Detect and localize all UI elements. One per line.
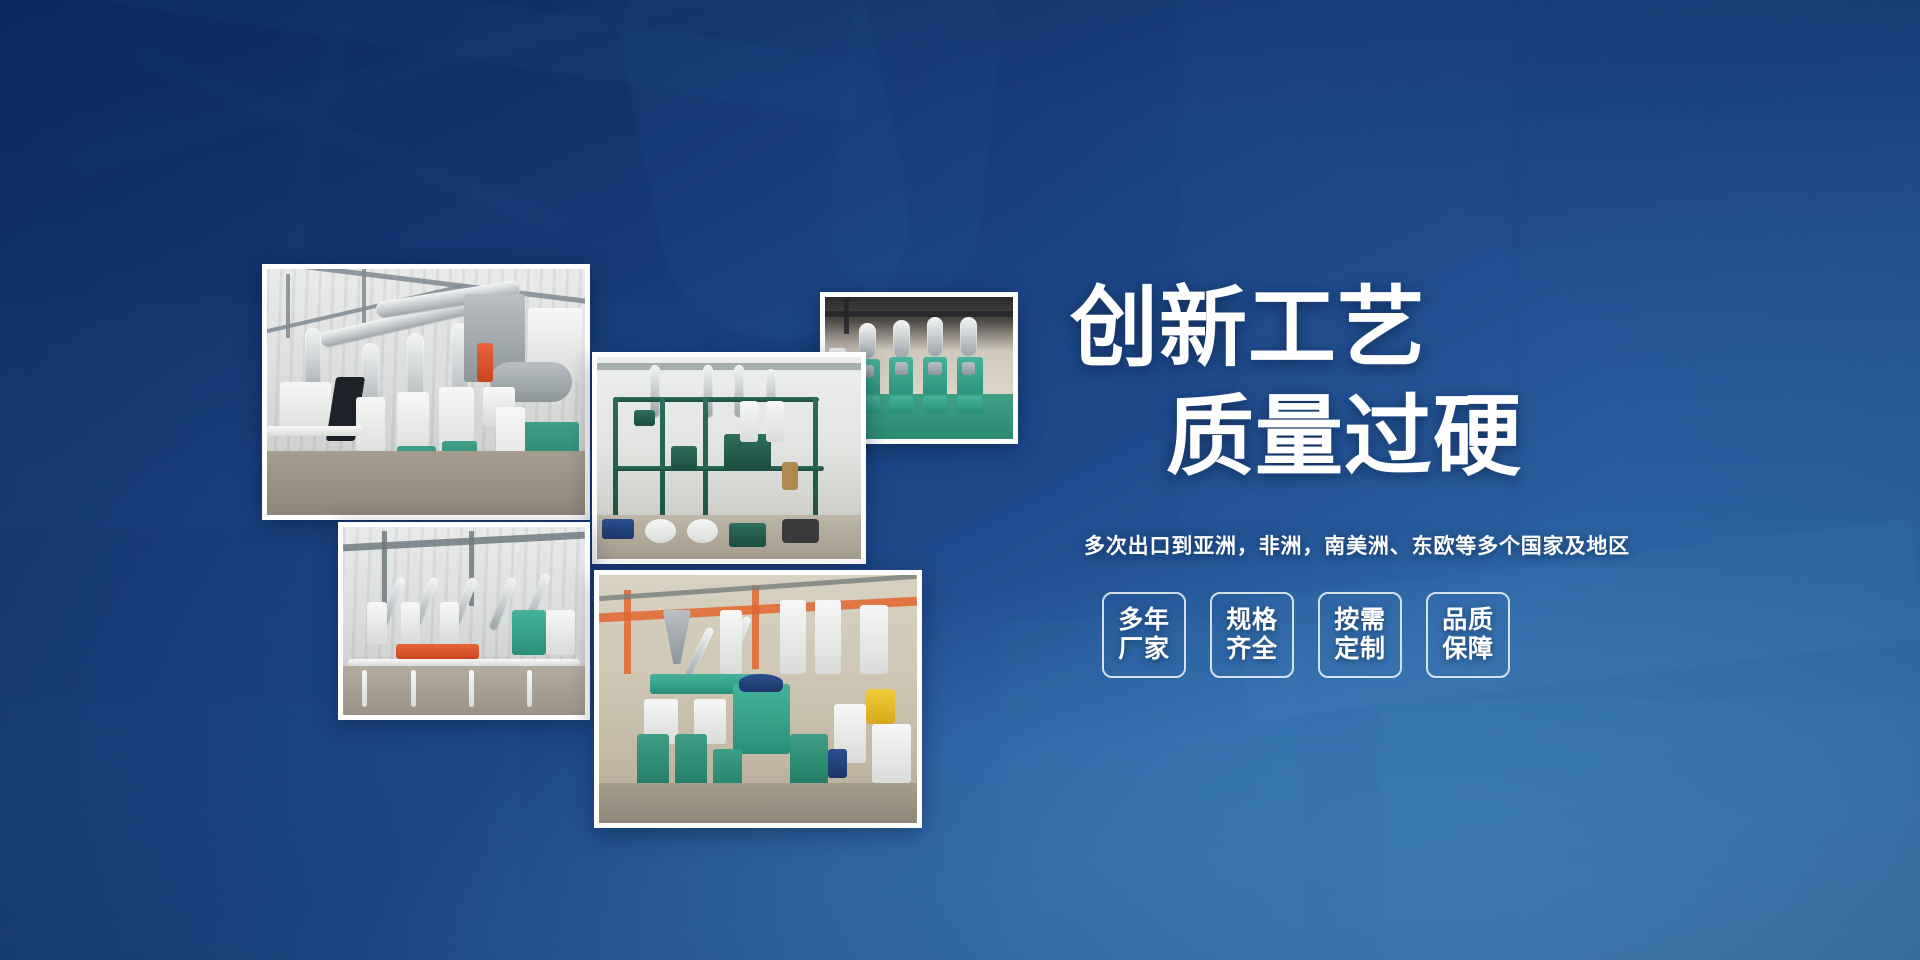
- feature-badge-years[interactable]: 多年 厂家: [1102, 592, 1186, 678]
- feature-badge-specs[interactable]: 规格 齐全: [1210, 592, 1294, 678]
- banner-subtitle: 多次出口到亚洲，非洲，南美洲、东欧等多个国家及地区: [1084, 530, 1860, 560]
- page-title: 创新工艺 质量过硬: [1070, 280, 1860, 484]
- badge-line-2: 保障: [1442, 635, 1494, 664]
- feature-badge-custom[interactable]: 按需 定制: [1318, 592, 1402, 678]
- badge-line-2: 定制: [1334, 635, 1386, 664]
- photo-image: [597, 357, 861, 559]
- badge-line-2: 齐全: [1226, 635, 1278, 664]
- badge-line-1: 按需: [1334, 606, 1386, 635]
- badge-line-1: 多年: [1118, 606, 1170, 635]
- headline-line-2: 质量过硬: [1166, 389, 1860, 484]
- photo-image: [343, 527, 585, 715]
- promo-banner: 创新工艺 质量过硬 多次出口到亚洲，非洲，南美洲、东欧等多个国家及地区 多年 厂…: [0, 0, 1920, 960]
- collage-photo-cleaning-line-platform[interactable]: [338, 522, 590, 720]
- photo-image: [599, 575, 917, 823]
- banner-content: 创新工艺 质量过硬 多次出口到亚洲，非洲，南美洲、东欧等多个国家及地区 多年 厂…: [1070, 280, 1860, 678]
- feature-badge-list: 多年 厂家 规格 齐全 按需 定制 品质 保障: [1102, 592, 1860, 678]
- badge-line-1: 规格: [1226, 606, 1278, 635]
- feature-badge-quality[interactable]: 品质 保障: [1426, 592, 1510, 678]
- photo-collage: [0, 0, 1000, 960]
- collage-photo-grain-processing-plant[interactable]: [592, 352, 866, 564]
- badge-line-2: 厂家: [1118, 635, 1170, 664]
- collage-photo-milling-line-ducts[interactable]: [262, 264, 590, 520]
- headline-line-1: 创新工艺: [1070, 280, 1860, 375]
- photo-image: [267, 269, 585, 515]
- collage-photo-corn-mill-machine-set[interactable]: [594, 570, 922, 828]
- badge-line-1: 品质: [1442, 606, 1494, 635]
